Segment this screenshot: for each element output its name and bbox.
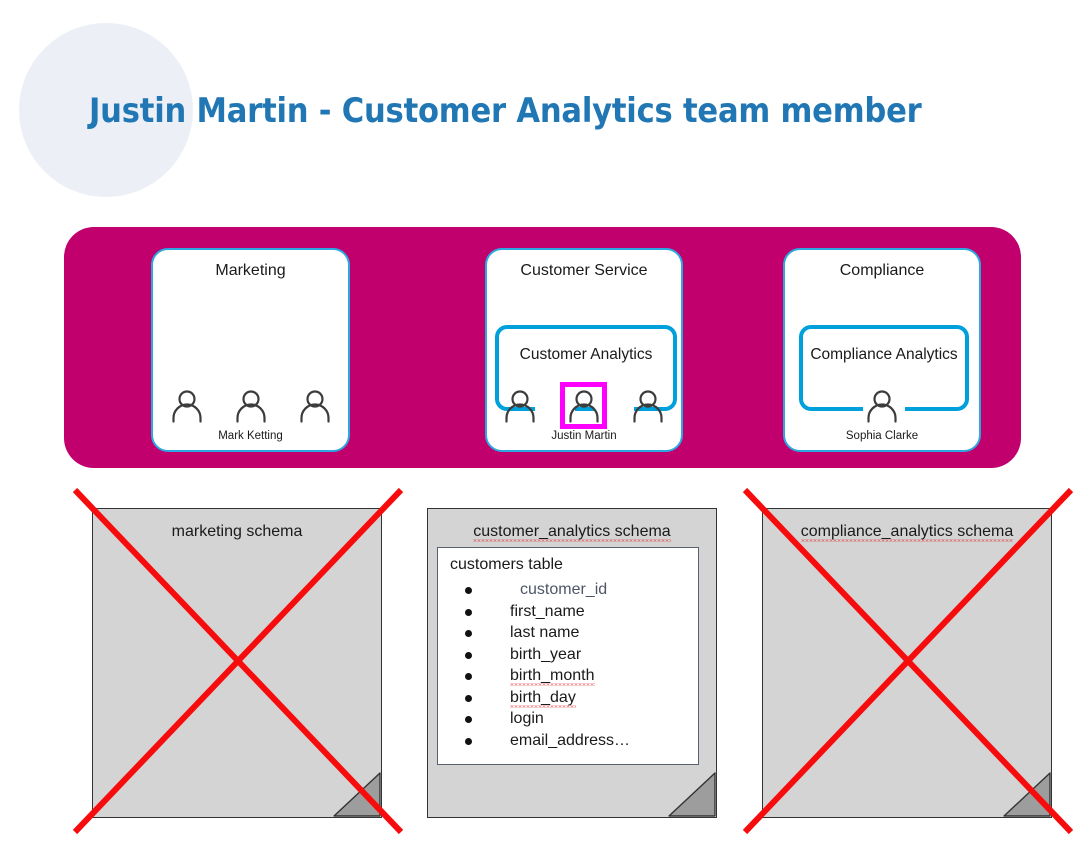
member-name-justin-martin: Justin Martin <box>487 430 681 442</box>
schema-table-name: customers table <box>450 556 563 574</box>
dept-card-compliance[interactable]: Compliance Compliance Analytics Sophia C… <box>783 248 981 452</box>
schema-doc-title-marketing: marketing schema <box>93 523 381 541</box>
member-name-sophia-clarke: Sophia Clarke <box>785 430 979 442</box>
person-icon <box>168 388 206 426</box>
person-icon <box>296 388 334 426</box>
person-slot[interactable] <box>296 388 334 426</box>
schema-column-item: last name <box>452 622 630 644</box>
schema-doc-title-customer-analytics: customer_analytics schema <box>428 523 716 541</box>
schema-column-item: birth_year <box>452 644 630 666</box>
schema-column-item: login <box>452 708 630 730</box>
person-icon <box>232 388 270 426</box>
schema-column-item: first_name <box>452 601 630 623</box>
person-icon <box>629 388 667 426</box>
person-icon <box>565 388 603 426</box>
person-slot[interactable] <box>629 388 667 426</box>
person-slot-highlighted-justin-martin[interactable] <box>565 388 603 426</box>
page-fold-icon <box>1003 773 1051 817</box>
schema-column-item: email_address… <box>452 730 630 752</box>
schema-column-item: birth_month <box>452 665 630 687</box>
person-icon <box>501 388 539 426</box>
schema-column-item: birth_day <box>452 687 630 709</box>
person-slot[interactable] <box>168 388 206 426</box>
person-slot[interactable] <box>863 388 901 426</box>
schema-column-item: customer_id <box>452 579 630 601</box>
member-name-mark-ketting: Mark Ketting <box>153 430 348 442</box>
people-row-customer-service <box>487 388 681 426</box>
schema-table-panel: customers table customer_id first_name l… <box>437 547 699 765</box>
schema-column-list: customer_id first_name last name birth_y… <box>452 579 630 751</box>
dept-card-marketing[interactable]: Marketing <box>151 248 350 452</box>
people-row-marketing <box>153 388 348 426</box>
subteam-label-customer-analytics: Customer Analytics <box>499 345 673 364</box>
person-slot[interactable] <box>501 388 539 426</box>
page-fold-icon <box>333 773 381 817</box>
dept-title-customer-service: Customer Service <box>487 262 681 280</box>
schema-doc-marketing[interactable]: marketing schema <box>92 508 382 818</box>
page-fold-icon <box>668 773 716 817</box>
schema-doc-customer-analytics[interactable]: customer_analytics schema customers tabl… <box>427 508 717 818</box>
person-icon <box>863 388 901 426</box>
subteam-label-compliance-analytics: Compliance Analytics <box>803 345 965 364</box>
page-title: Justin Martin - Customer Analytics team … <box>89 91 922 131</box>
schema-doc-title-compliance-analytics: compliance_analytics schema <box>763 523 1051 541</box>
dept-title-compliance: Compliance <box>785 262 979 280</box>
dept-title-marketing: Marketing <box>153 262 348 280</box>
schema-doc-compliance-analytics[interactable]: compliance_analytics schema <box>762 508 1052 818</box>
person-slot[interactable] <box>232 388 270 426</box>
people-row-compliance <box>785 388 979 426</box>
slide-canvas: Justin Martin - Customer Analytics team … <box>0 0 1092 844</box>
dept-card-customer-service[interactable]: Customer Service Customer Analytics <box>485 248 683 452</box>
